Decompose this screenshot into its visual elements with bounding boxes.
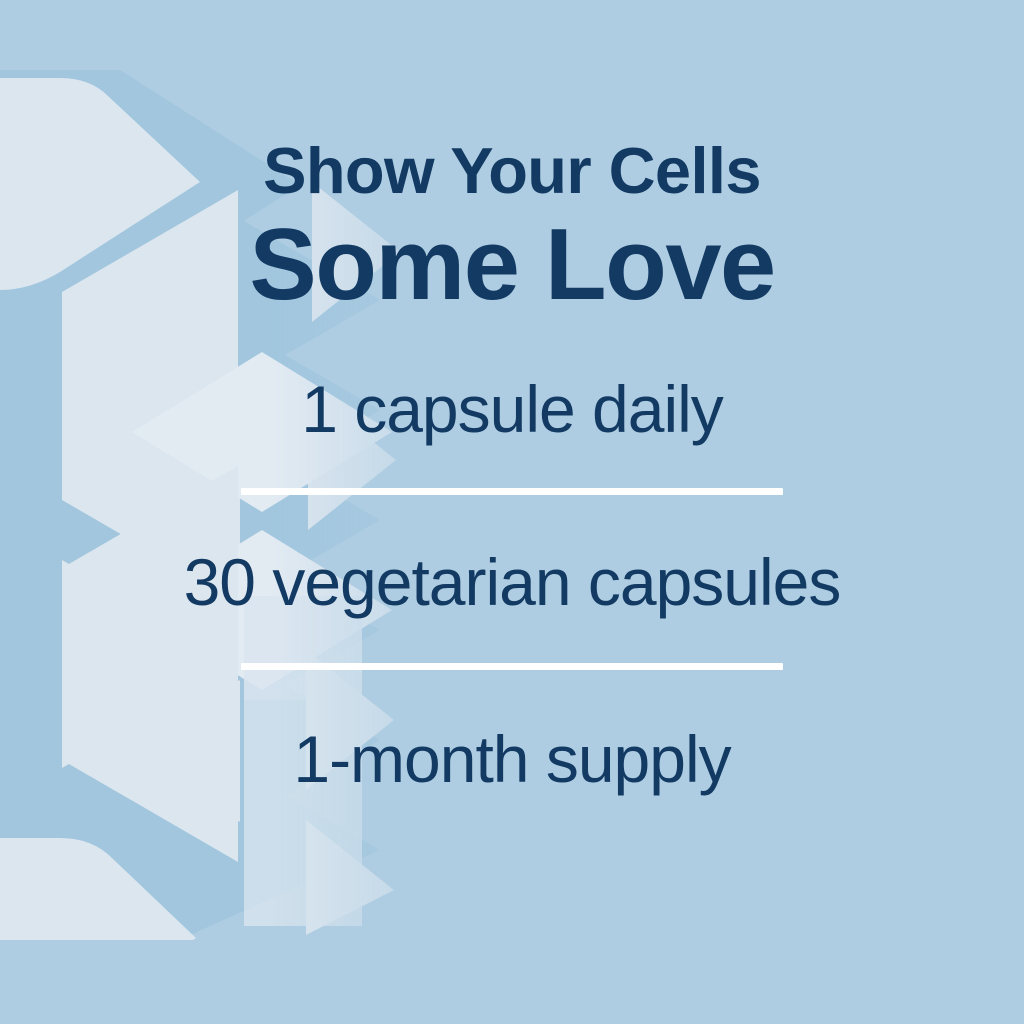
content-stack: Show Your Cells Some Love 1 capsule dail… — [0, 0, 1024, 1024]
fact-supply: 1-month supply — [293, 726, 730, 792]
fact-count: 30 vegetarian capsules — [184, 549, 841, 615]
divider-1 — [241, 488, 783, 495]
headline-line-1: Show Your Cells — [249, 138, 774, 203]
fact-dosage: 1 capsule daily — [301, 376, 723, 442]
headline-line-2: Some Love — [249, 215, 774, 316]
divider-2 — [241, 663, 783, 670]
headline: Show Your Cells Some Love — [249, 138, 774, 316]
promo-card: Show Your Cells Some Love 1 capsule dail… — [0, 0, 1024, 1024]
